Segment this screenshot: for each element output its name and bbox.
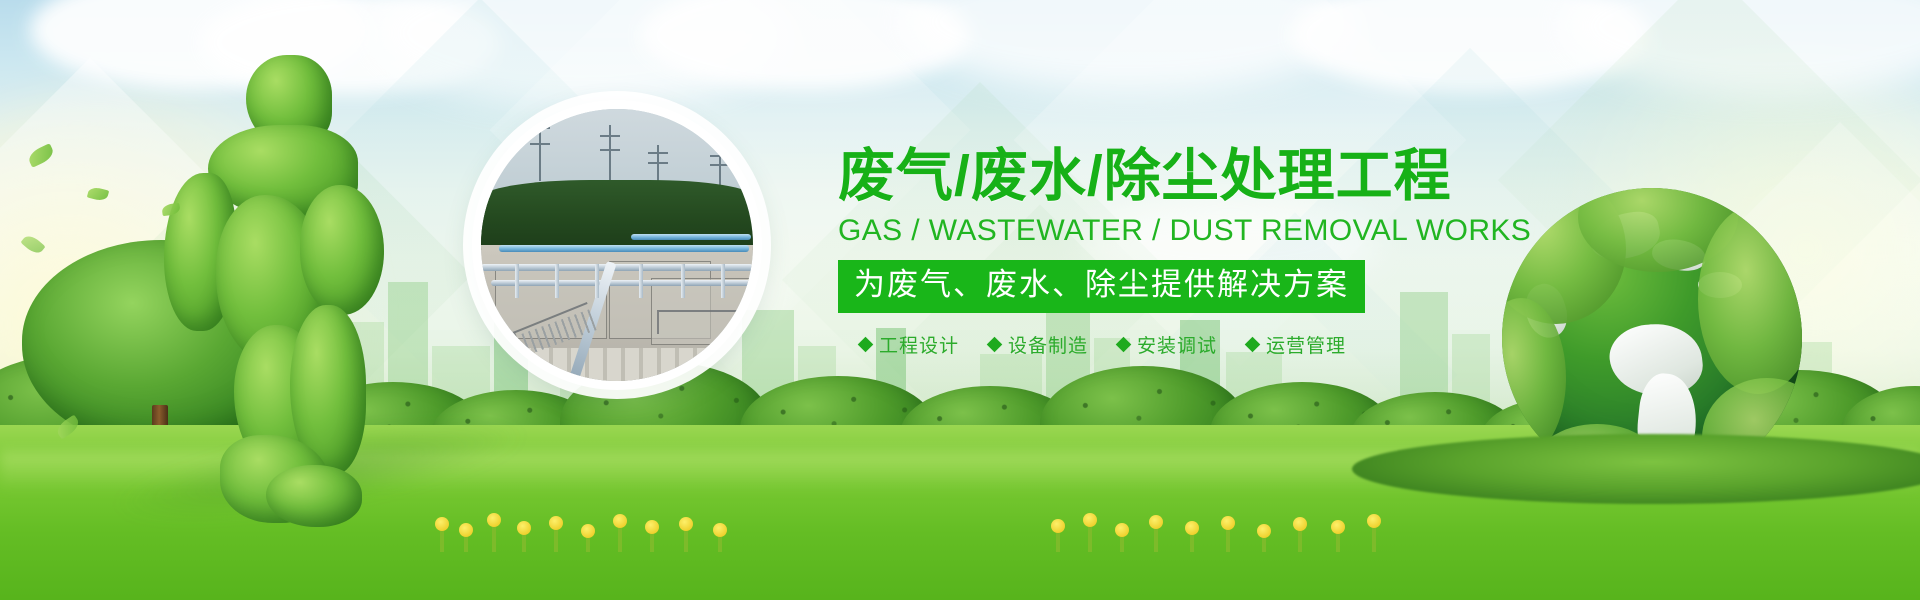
wastewater-plant-photo	[481, 109, 753, 381]
yellow-flower-cluster	[430, 506, 760, 552]
feature-label: 安装调试	[1137, 331, 1217, 358]
feature-item-operation-management[interactable]: 运营管理	[1247, 331, 1346, 358]
leaf-globe-figure	[1502, 188, 1802, 488]
vine-cluster	[1698, 204, 1802, 394]
feature-list: 工程设计 设备制造 安装调试 运营管理	[838, 331, 1498, 358]
globe-leaf-bed	[1352, 434, 1920, 504]
page-title: 废气/废水/除尘处理工程	[838, 148, 1498, 205]
diamond-icon	[1116, 336, 1132, 352]
feature-label: 设备制造	[1008, 331, 1088, 358]
diamond-icon	[987, 336, 1003, 352]
tagline-text: 为废气、废水、除尘提供解决方案	[854, 267, 1349, 302]
diamond-icon	[858, 336, 874, 352]
feature-label: 工程设计	[879, 331, 959, 358]
tagline-bar: 为废气、废水、除尘提供解决方案	[838, 260, 1365, 313]
circle-photo-frame	[472, 100, 762, 390]
diamond-icon	[1245, 336, 1261, 352]
feature-item-equipment-manufacturing[interactable]: 设备制造	[989, 331, 1088, 358]
leaf-man-figure	[150, 55, 400, 525]
headline-text-block: 废气/废水/除尘处理工程 GAS / WASTEWATER / DUST REM…	[838, 148, 1498, 358]
feature-label: 运营管理	[1266, 331, 1346, 358]
page-subtitle-english: GAS / WASTEWATER / DUST REMOVAL WORKS	[838, 216, 1498, 246]
yellow-flower-cluster	[1050, 506, 1410, 552]
eco-engineering-hero-banner: 废气/废水/除尘处理工程 GAS / WASTEWATER / DUST REM…	[0, 0, 1920, 600]
feature-item-engineering-design[interactable]: 工程设计	[860, 331, 959, 358]
feature-item-installation-commissioning[interactable]: 安装调试	[1118, 331, 1217, 358]
